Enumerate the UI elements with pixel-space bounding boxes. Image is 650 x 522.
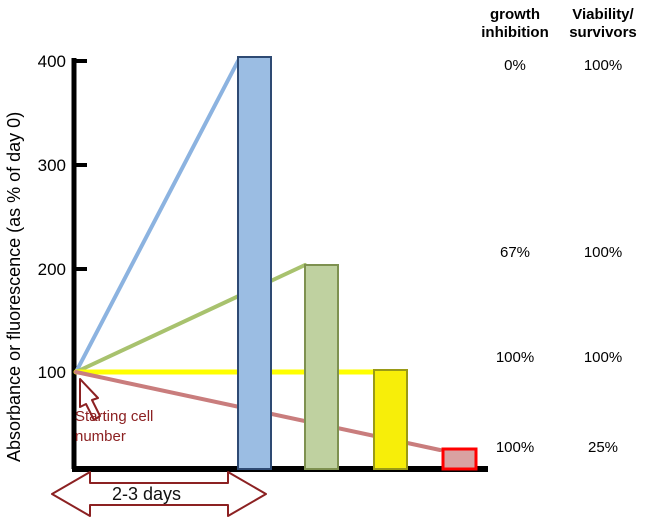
- table-header-growth-inhibition-line2: inhibition: [470, 24, 560, 42]
- bar-untreated: [238, 57, 271, 469]
- starting-cell-note-line1: Starting cell: [75, 408, 153, 427]
- starting-cell-note-line2: number: [75, 428, 126, 447]
- table-cell-viability-row2: 100%: [560, 245, 646, 262]
- bars: [238, 57, 476, 469]
- table-header-viability-line1: Viability/: [560, 6, 646, 24]
- bar-partial-inhibition: [305, 265, 338, 469]
- table-cell-growth-inhibition-row2: 67%: [470, 245, 560, 262]
- bar-growth-arrest: [374, 370, 407, 469]
- table-cell-viability-row3: 100%: [560, 350, 646, 367]
- table-cell-viability-row1: 100%: [560, 58, 646, 75]
- figure-root: Absorbance or fluorescence (as % of day …: [0, 0, 650, 522]
- table-cell-growth-inhibition-row1: 0%: [470, 58, 560, 75]
- time-span-label: 2-3 days: [112, 484, 181, 504]
- table-cell-growth-inhibition-row3: 100%: [470, 350, 560, 367]
- table-cell-viability-row4: 25%: [560, 440, 646, 457]
- table-cell-growth-inhibition-row4: 100%: [470, 440, 560, 457]
- trend-line-untreated: [76, 61, 238, 372]
- table-header-growth-inhibition-line1: growth: [470, 6, 560, 24]
- table-header-viability-line2: survivors: [560, 24, 646, 42]
